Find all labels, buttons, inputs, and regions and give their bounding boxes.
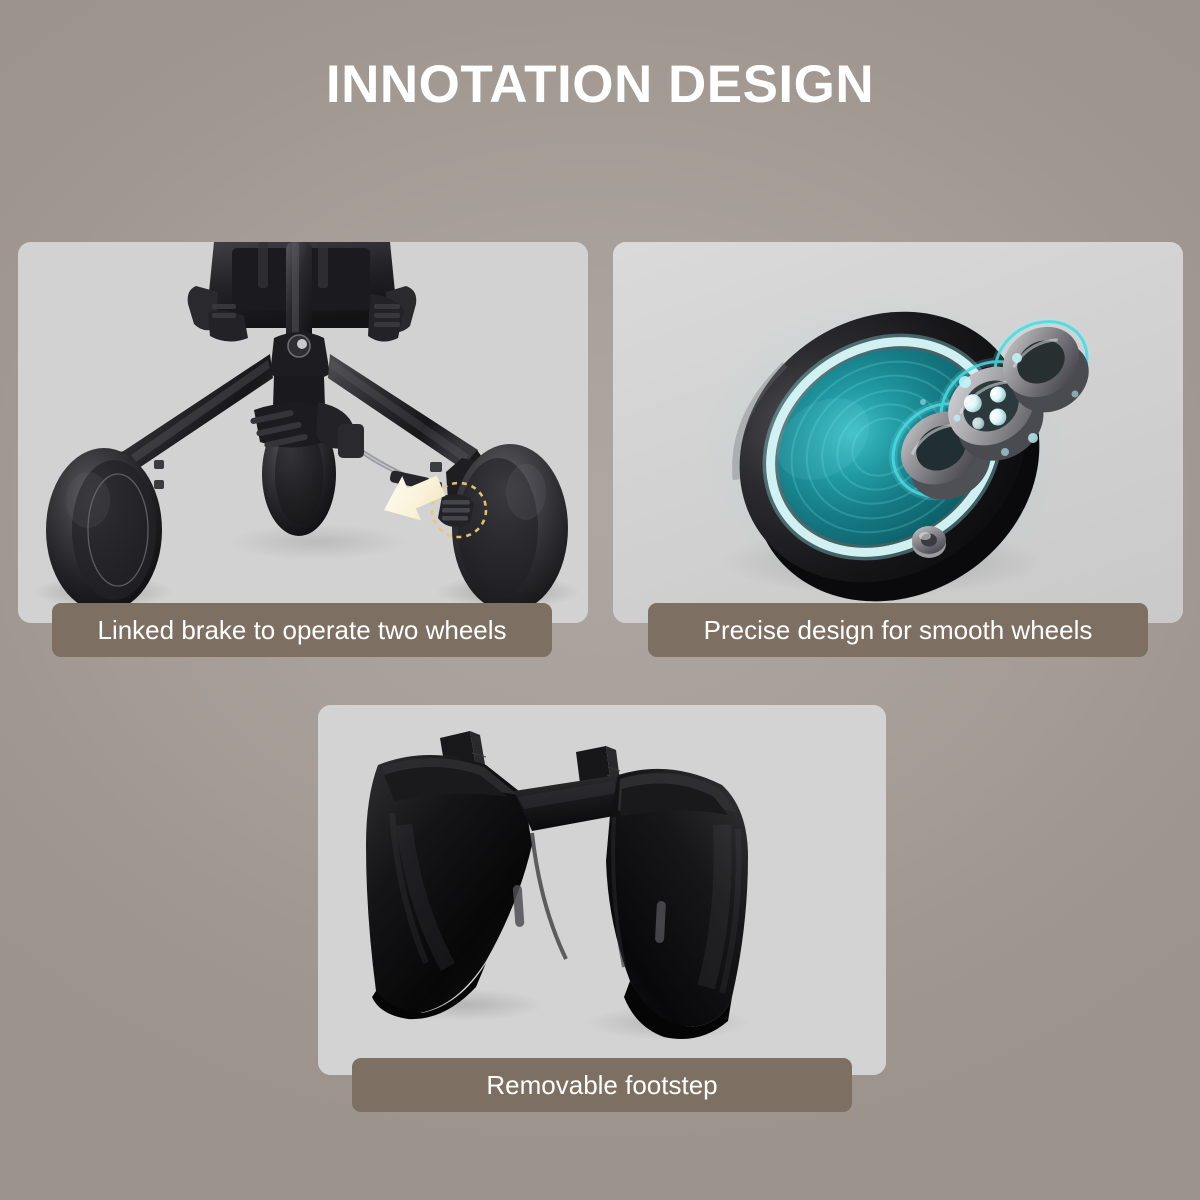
exploded-wheel-render	[613, 242, 1183, 623]
infographic-canvas: INNOTATION DESIGN	[0, 0, 1200, 1200]
caption-precise-wheel: Precise design for smooth wheels	[648, 603, 1148, 657]
panel-removable-footstep	[318, 705, 886, 1075]
footstep-photo	[318, 705, 886, 1075]
page-title: INNOTATION DESIGN	[0, 58, 1200, 111]
panel-precise-wheel	[613, 242, 1183, 623]
caption-linked-brake: Linked brake to operate two wheels	[52, 603, 552, 657]
stroller-brake-photo	[18, 242, 588, 623]
panel-linked-brake	[18, 242, 588, 623]
caption-removable-footstep: Removable footstep	[352, 1058, 852, 1112]
